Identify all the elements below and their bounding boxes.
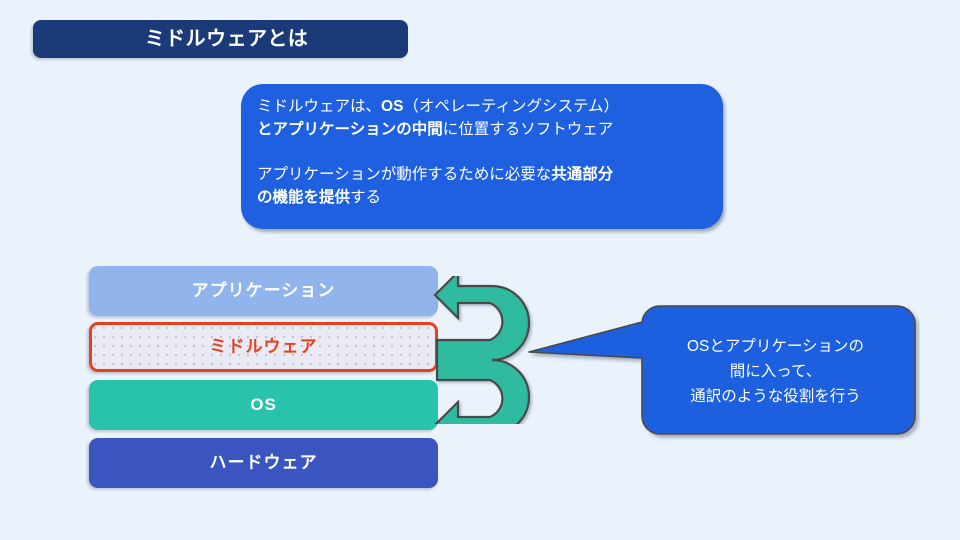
desc-p1-part5: に位置するソフトウェア	[443, 121, 614, 138]
stack-layer-hardware[interactable]: ハードウェア	[89, 438, 438, 488]
role-callout-line-1: OSとアプリケーションの	[638, 334, 913, 359]
role-callout-line-3: 通訳のような役割を行う	[638, 384, 913, 409]
desc-p1-part2: OS	[381, 98, 403, 115]
stack-layer-middleware[interactable]: ミドルウェア	[89, 322, 438, 372]
stack-layer-application[interactable]: アプリケーション	[89, 266, 438, 316]
role-callout-bubble: OSとアプリケーションの 間に入って、 通訳のような役割を行う	[525, 296, 920, 441]
double-headed-curved-arrow-icon	[430, 276, 540, 424]
stack-layer-os[interactable]: OS	[89, 380, 438, 430]
desc-p2-part2: 共通部分	[551, 166, 613, 183]
stack-layer-label: OS	[250, 395, 277, 414]
slide-canvas: ミドルウェアとは ミドルウェアは、OS（オペレーティングシステム）とアプリケーシ…	[0, 0, 960, 540]
desc-p1-part4: とアプリケーションの中間	[257, 121, 443, 138]
stack-layer-label: ミドルウェア	[210, 337, 318, 356]
stack-layer-label: ハードウェア	[210, 453, 318, 472]
desc-p2-part4: する	[350, 189, 381, 206]
stack-layer-label: アプリケーション	[192, 281, 336, 300]
description-callout: ミドルウェアは、OS（オペレーティングシステム）とアプリケーションの中間に位置す…	[241, 84, 723, 229]
page-title: ミドルウェアとは	[33, 20, 408, 58]
slide-title-bar: ミドルウェアとは	[33, 20, 408, 58]
description-paragraph-1: ミドルウェアは、OS（オペレーティングシステム）とアプリケーションの中間に位置す…	[257, 95, 711, 141]
description-callout-text: ミドルウェアは、OS（オペレーティングシステム）とアプリケーションの中間に位置す…	[257, 95, 711, 209]
desc-p1-part3: （オペレーティングシステム）	[403, 98, 619, 115]
role-callout-text: OSとアプリケーションの 間に入って、 通訳のような役割を行う	[638, 334, 913, 409]
paragraph-spacer	[257, 141, 711, 163]
desc-p2-part3: の機能を提供	[257, 189, 350, 206]
desc-p2-part1: アプリケーションが動作するために必要な	[257, 166, 551, 183]
role-callout-line-2: 間に入って、	[638, 359, 913, 384]
desc-p1-part1: ミドルウェアは、	[257, 98, 381, 115]
description-paragraph-2: アプリケーションが動作するために必要な共通部分の機能を提供する	[257, 163, 711, 209]
